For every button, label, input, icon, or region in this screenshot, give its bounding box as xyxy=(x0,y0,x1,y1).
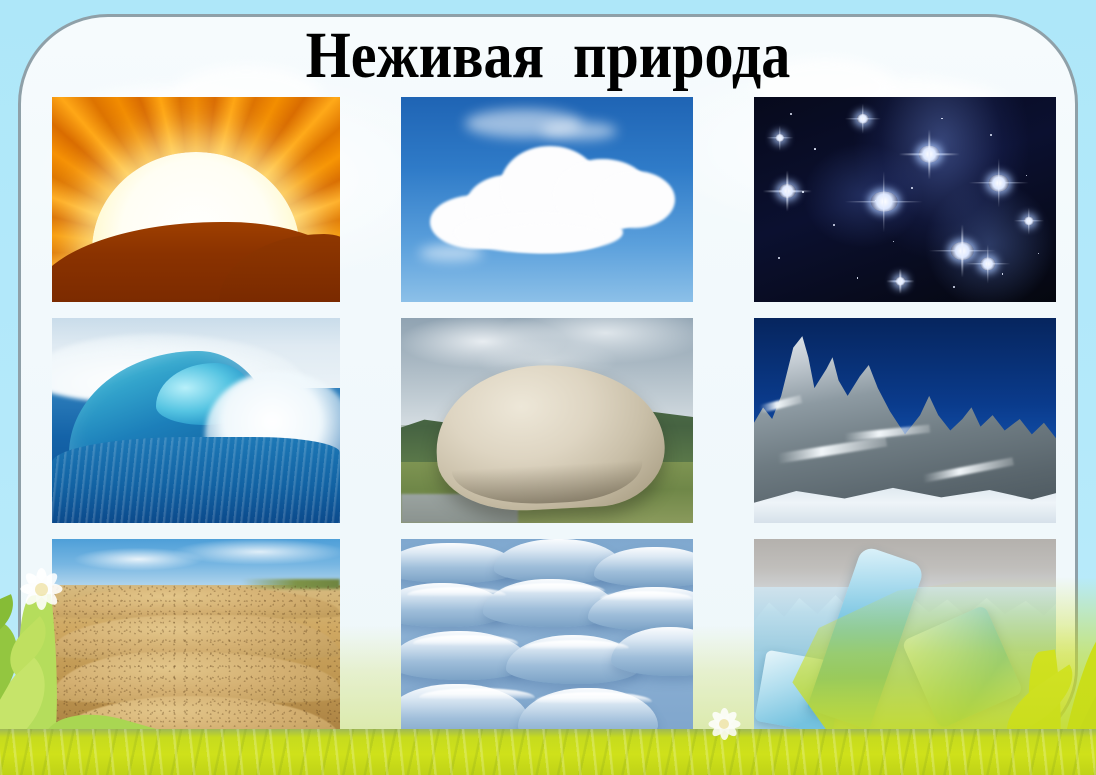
photo-snow[interactable] xyxy=(401,539,693,740)
photo-sand-dunes[interactable] xyxy=(52,539,340,740)
photo-stars[interactable] xyxy=(754,97,1056,302)
cloud-blob xyxy=(489,224,606,253)
snow-sparkle xyxy=(600,591,693,601)
star-glyph xyxy=(965,245,1010,284)
star-glyph xyxy=(766,126,793,151)
star-glyph xyxy=(887,269,914,294)
slide-canvas: Неживая природа xyxy=(0,0,1096,775)
star-glyph xyxy=(845,171,924,233)
photo-cloud[interactable] xyxy=(401,97,693,302)
snow-sparkle xyxy=(535,692,652,704)
snow-mound xyxy=(611,627,693,675)
photo-mountains[interactable] xyxy=(754,318,1056,523)
star-glyph xyxy=(899,130,959,179)
photo-boulder[interactable] xyxy=(401,318,693,523)
star-glyph xyxy=(763,171,811,212)
sea-surface xyxy=(52,437,340,523)
photo-ocean-wave[interactable] xyxy=(52,318,340,523)
star-glyph xyxy=(1014,208,1044,235)
star-glyph xyxy=(968,159,1028,208)
photo-ice[interactable] xyxy=(754,539,1056,740)
snow-sparkle xyxy=(500,583,605,593)
snow-sparkle xyxy=(413,635,518,645)
sand-grain-texture xyxy=(52,585,340,740)
photo-sun[interactable] xyxy=(52,97,340,302)
nature-photo-grid xyxy=(52,97,1057,740)
star-glyph xyxy=(845,103,881,134)
cloud-wisp xyxy=(541,122,617,140)
snow-sparkle xyxy=(407,587,506,597)
page-title: Неживая природа xyxy=(66,18,1030,94)
